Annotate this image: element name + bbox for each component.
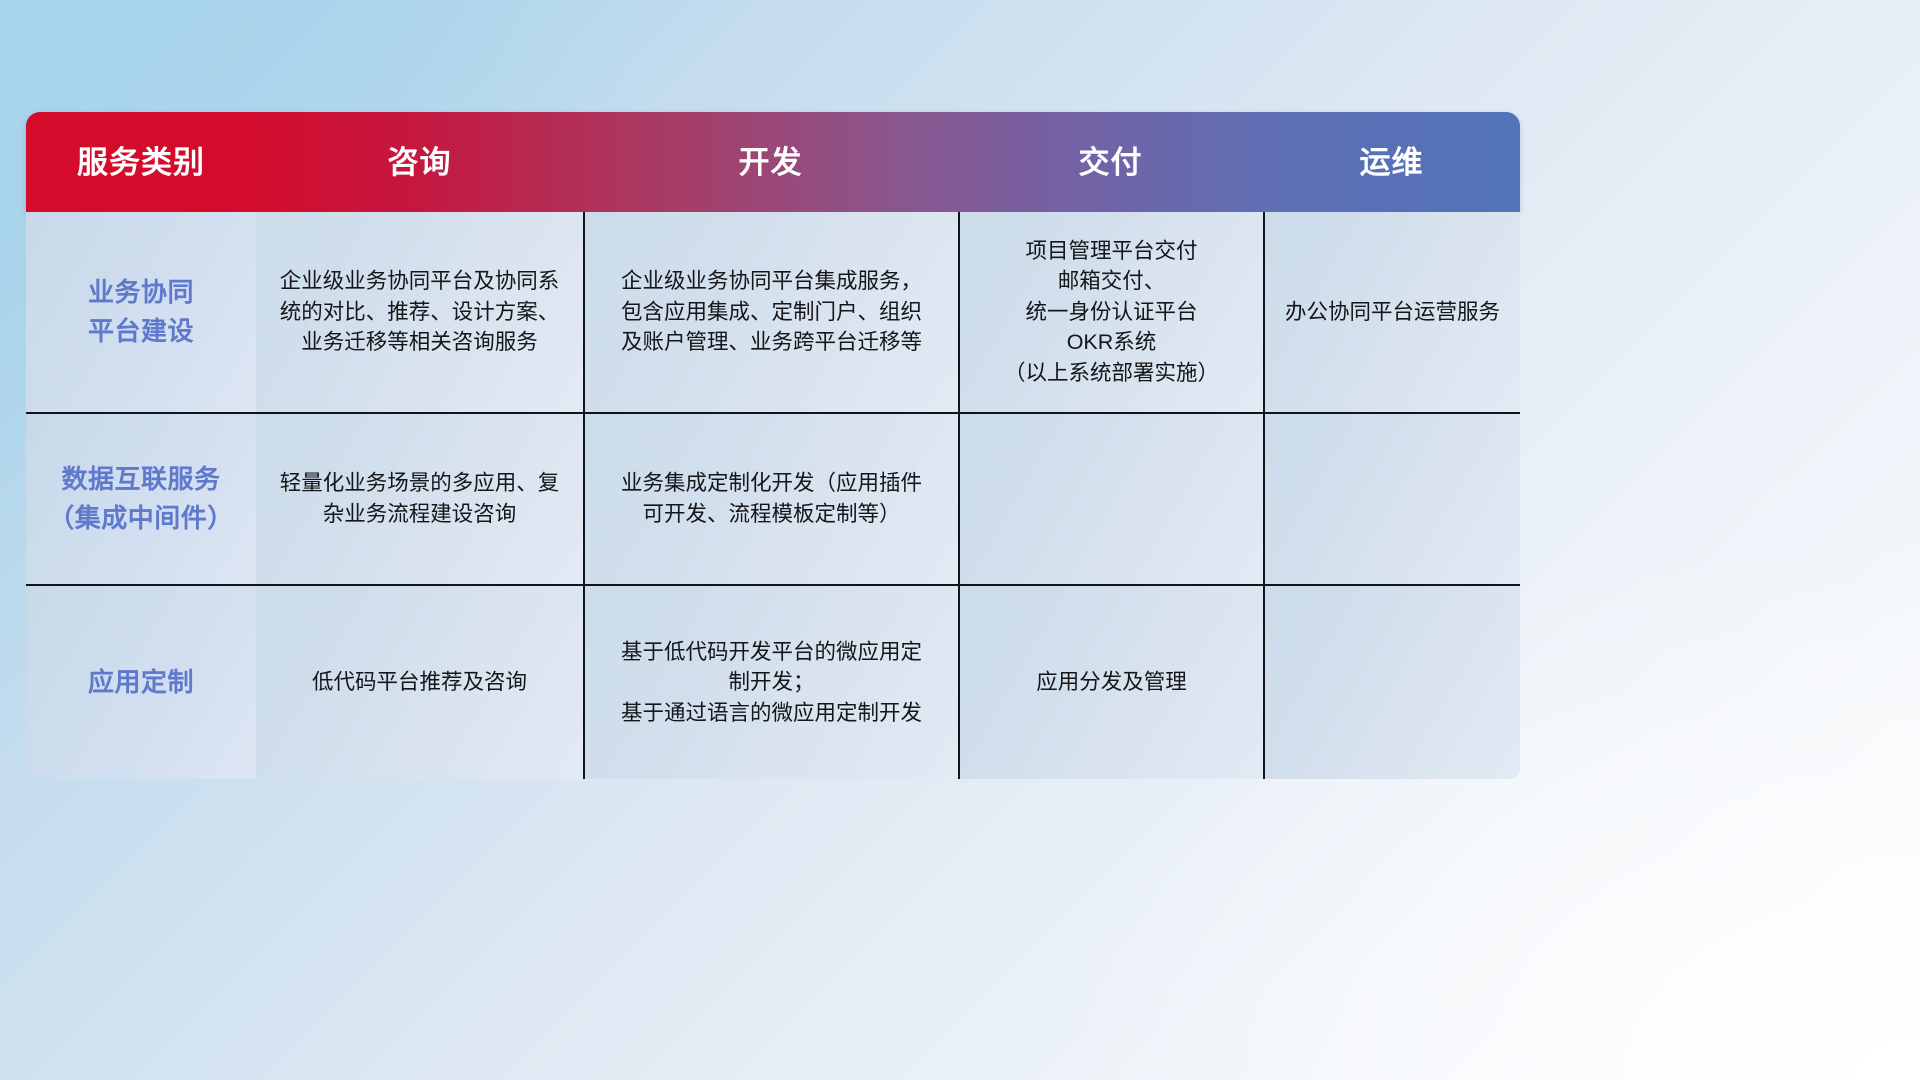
cell-development-text: 业务集成定制化开发（应用插件 可开发、流程模板定制等）	[621, 468, 922, 529]
cell-development: 业务集成定制化开发（应用插件 可开发、流程模板定制等）	[583, 414, 958, 584]
cell-operations-text: 办公协同平台运营服务	[1285, 297, 1500, 328]
cell-consulting: 轻量化业务场景的多应用、复 杂业务流程建设咨询	[256, 414, 583, 584]
row-category-label: 业务协同 平台建设	[88, 273, 194, 351]
table-row: 数据互联服务 （集成中间件） 轻量化业务场景的多应用、复 杂业务流程建设咨询 业…	[26, 412, 1520, 584]
service-matrix-table: 服务类别 咨询 开发 交付 运维 业务协同 平台建设 企业级业务	[26, 112, 1520, 779]
row-category-cell: 数据互联服务 （集成中间件）	[26, 414, 256, 584]
cell-operations: 办公协同平台运营服务	[1263, 212, 1520, 412]
cell-development-text: 基于低代码开发平台的微应用定 制开发； 基于通过语言的微应用定制开发	[621, 637, 922, 729]
cell-delivery	[958, 414, 1263, 584]
column-header-delivery: 交付	[958, 112, 1263, 212]
cell-delivery-text: 项目管理平台交付 邮箱交付、 统一身份认证平台 OKR系统 （以上系统部署实施）	[1004, 236, 1219, 389]
column-header-operations: 运维	[1263, 112, 1520, 212]
slide-canvas: 服务类别 咨询 开发 交付 运维 业务协同 平台建设 企业级业务	[0, 0, 1920, 1080]
column-header-category: 服务类别	[26, 112, 256, 212]
column-header-operations-label: 运维	[1360, 147, 1424, 178]
column-header-consulting: 咨询	[256, 112, 583, 212]
cell-delivery: 项目管理平台交付 邮箱交付、 统一身份认证平台 OKR系统 （以上系统部署实施）	[958, 212, 1263, 412]
row-category-cell: 应用定制	[26, 586, 256, 779]
cell-consulting: 低代码平台推荐及咨询	[256, 586, 583, 779]
row-category-label: 数据互联服务 （集成中间件）	[48, 460, 234, 538]
column-header-development: 开发	[583, 112, 958, 212]
cell-consulting: 企业级业务协同平台及协同系 统的对比、推荐、设计方案、 业务迁移等相关咨询服务	[256, 212, 583, 412]
row-category-label: 应用定制	[88, 663, 194, 702]
column-header-consulting-label: 咨询	[388, 147, 452, 178]
table-body: 业务协同 平台建设 企业级业务协同平台及协同系 统的对比、推荐、设计方案、 业务…	[26, 212, 1520, 779]
cell-operations	[1263, 414, 1520, 584]
cell-consulting-text: 轻量化业务场景的多应用、复 杂业务流程建设咨询	[280, 468, 560, 529]
cell-development: 基于低代码开发平台的微应用定 制开发； 基于通过语言的微应用定制开发	[583, 586, 958, 779]
table-header-row: 服务类别 咨询 开发 交付 运维	[26, 112, 1520, 212]
row-category-cell: 业务协同 平台建设	[26, 212, 256, 412]
column-header-delivery-label: 交付	[1079, 147, 1143, 178]
cell-development: 企业级业务协同平台集成服务， 包含应用集成、定制门户、组织 及账户管理、业务跨平…	[583, 212, 958, 412]
cell-operations	[1263, 586, 1520, 779]
column-header-development-label: 开发	[739, 147, 803, 178]
cell-delivery-text: 应用分发及管理	[1036, 667, 1187, 698]
cell-consulting-text: 低代码平台推荐及咨询	[312, 667, 527, 698]
cell-development-text: 企业级业务协同平台集成服务， 包含应用集成、定制门户、组织 及账户管理、业务跨平…	[621, 266, 922, 358]
table-row: 应用定制 低代码平台推荐及咨询 基于低代码开发平台的微应用定 制开发； 基于通过…	[26, 584, 1520, 779]
column-header-category-label: 服务类别	[77, 147, 205, 178]
cell-delivery: 应用分发及管理	[958, 586, 1263, 779]
cell-consulting-text: 企业级业务协同平台及协同系 统的对比、推荐、设计方案、 业务迁移等相关咨询服务	[280, 266, 560, 358]
table-row: 业务协同 平台建设 企业级业务协同平台及协同系 统的对比、推荐、设计方案、 业务…	[26, 212, 1520, 412]
